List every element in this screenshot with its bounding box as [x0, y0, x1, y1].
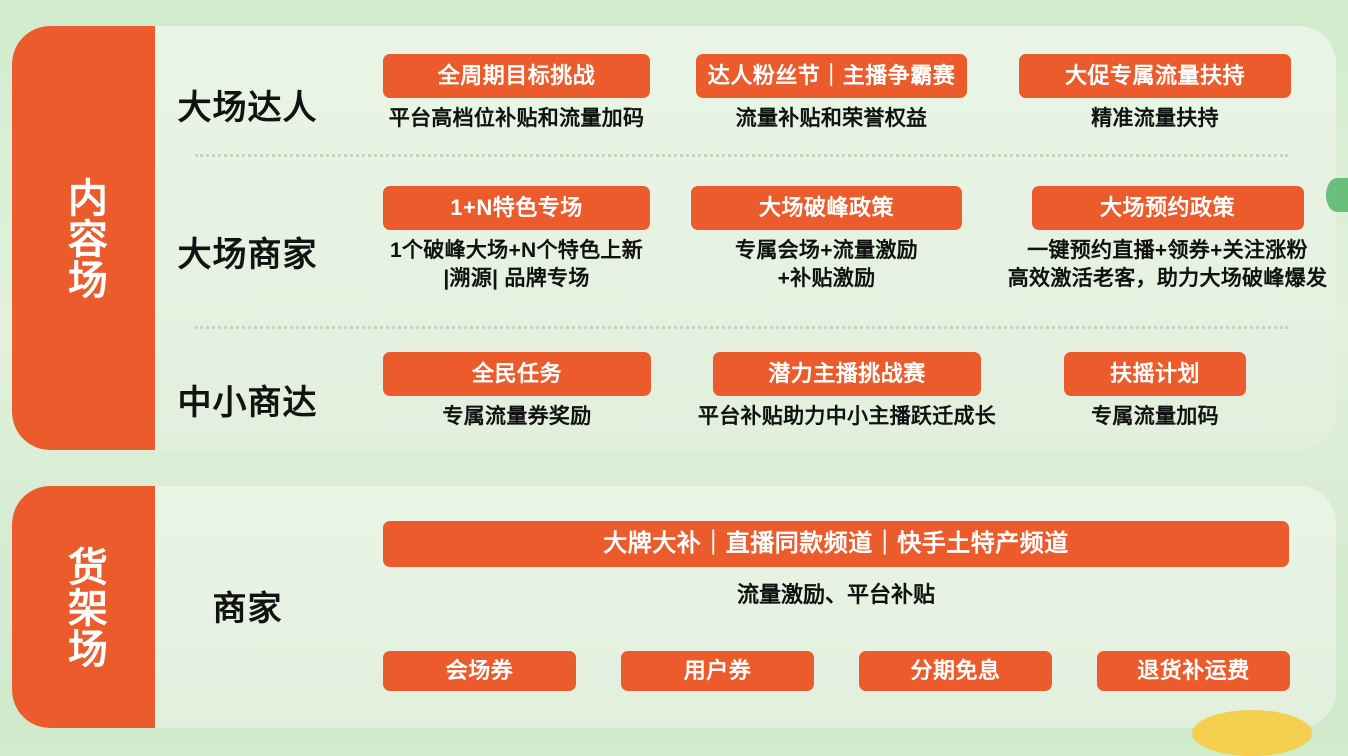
card-potential-anchor-challenge[interactable]: 潜力主播挑战赛 平台补贴助力中小主播跃迁成长	[674, 352, 1020, 431]
row-divider-2	[195, 326, 1288, 329]
card-promo-exclusive-traffic[interactable]: 大促专属流量扶持 精准流量扶持	[1019, 54, 1291, 133]
card-1-plus-n-special[interactable]: 1+N特色专场 1个破峰大场+N个特色上新 |溯源| 品牌专场	[383, 186, 650, 292]
row-cards: 全民任务 专属流量券奖励 潜力主播挑战赛 平台补贴助力中小主播跃迁成长 扶摇计划…	[340, 344, 1336, 450]
card-fuyao-plan[interactable]: 扶摇计划 专属流量加码	[1040, 352, 1270, 431]
card-all-people-task[interactable]: 全民任务 专属流量券奖励	[383, 352, 651, 431]
row-label-small-medium: 中小商达	[155, 375, 340, 424]
card-big-breakthrough-policy[interactable]: 大场破峰政策 专属会场+流量激励 +补贴激励	[691, 186, 962, 292]
goods-field-rows: 商家 大牌大补｜直播同款频道｜快手土特产频道 流量激励、平台补贴 会场券 用户券…	[155, 486, 1336, 728]
chip-installment-free-interest[interactable]: 分期免息	[859, 651, 1052, 691]
card-desc: 一键预约直播+领券+关注涨粉 高效激活老客，助力大场破峰爆发	[1000, 237, 1335, 292]
card-desc: 精准流量扶持	[1019, 105, 1291, 133]
card-desc: 平台高档位补贴和流量加码	[383, 105, 650, 133]
row-label-merchant: 商家	[155, 581, 340, 630]
card-talent-fan-festival[interactable]: 达人粉丝节｜主播争霸赛 流量补贴和荣誉权益	[696, 54, 967, 133]
card-desc: 专属流量券奖励	[383, 403, 651, 431]
chip-return-shipping-subsidy[interactable]: 退货补运费	[1097, 651, 1290, 691]
side-tab-label: 内容场	[61, 177, 106, 300]
panel-content-field: 内容场 大场达人 全周期目标挑战 平台高档位补贴和流量加码 达人粉丝节｜主播争霸…	[12, 26, 1336, 450]
card-desc: 1个破峰大场+N个特色上新 |溯源| 品牌专场	[383, 237, 650, 292]
content-field-rows: 大场达人 全周期目标挑战 平台高档位补贴和流量加码 达人粉丝节｜主播争霸赛 流量…	[155, 26, 1336, 450]
side-tab-content-field[interactable]: 内容场	[12, 26, 155, 450]
card-title: 达人粉丝节｜主播争霸赛	[696, 54, 967, 98]
card-title: 潜力主播挑战赛	[713, 352, 981, 396]
row-divider-1	[195, 154, 1288, 157]
card-title: 1+N特色专场	[383, 186, 650, 230]
row-label-big-merchant: 大场商家	[155, 227, 340, 276]
card-title: 大场预约政策	[1032, 186, 1304, 230]
card-full-cycle-goal-challenge[interactable]: 全周期目标挑战 平台高档位补贴和流量加码	[383, 54, 650, 133]
card-desc: 平台补贴助力中小主播跃迁成长	[674, 403, 1020, 431]
card-title: 大场破峰政策	[691, 186, 962, 230]
row-label-big-talent: 大场达人	[155, 80, 340, 129]
row-cards: 全周期目标挑战 平台高档位补贴和流量加码 达人粉丝节｜主播争霸赛 流量补贴和荣誉…	[340, 44, 1336, 164]
card-big-reservation-policy[interactable]: 大场预约政策 一键预约直播+领券+关注涨粉 高效激活老客，助力大场破峰爆发	[1000, 186, 1335, 292]
card-title: 大促专属流量扶持	[1019, 54, 1291, 98]
card-desc: 专属流量加码	[1040, 403, 1270, 431]
banner-brand-subsidy-channels[interactable]: 大牌大补｜直播同款频道｜快手土特产频道	[383, 521, 1289, 567]
card-title: 全民任务	[383, 352, 651, 396]
side-tab-label: 货架场	[61, 546, 106, 669]
card-title: 全周期目标挑战	[383, 54, 650, 98]
row-big-merchant: 大场商家 1+N特色专场 1个破峰大场+N个特色上新 |溯源| 品牌专场 大场破…	[155, 176, 1336, 326]
row-cards: 1+N特色专场 1个破峰大场+N个特色上新 |溯源| 品牌专场 大场破峰政策 专…	[340, 176, 1336, 326]
row-big-talent: 大场达人 全周期目标挑战 平台高档位补贴和流量加码 达人粉丝节｜主播争霸赛 流量…	[155, 44, 1336, 164]
chip-venue-coupon[interactable]: 会场券	[383, 651, 576, 691]
card-title: 扶摇计划	[1064, 352, 1246, 396]
card-desc: 专属会场+流量激励 +补贴激励	[691, 237, 962, 292]
panel-goods-field: 货架场 商家 大牌大补｜直播同款频道｜快手土特产频道 流量激励、平台补贴 会场券…	[12, 486, 1336, 728]
banner-desc: 流量激励、平台补贴	[383, 577, 1289, 609]
chip-user-coupon[interactable]: 用户券	[621, 651, 814, 691]
side-tab-goods-field[interactable]: 货架场	[12, 486, 155, 728]
row-small-medium: 中小商达 全民任务 专属流量券奖励 潜力主播挑战赛 平台补贴助力中小主播跃迁成长…	[155, 344, 1336, 450]
card-desc: 流量补贴和荣誉权益	[696, 105, 967, 133]
